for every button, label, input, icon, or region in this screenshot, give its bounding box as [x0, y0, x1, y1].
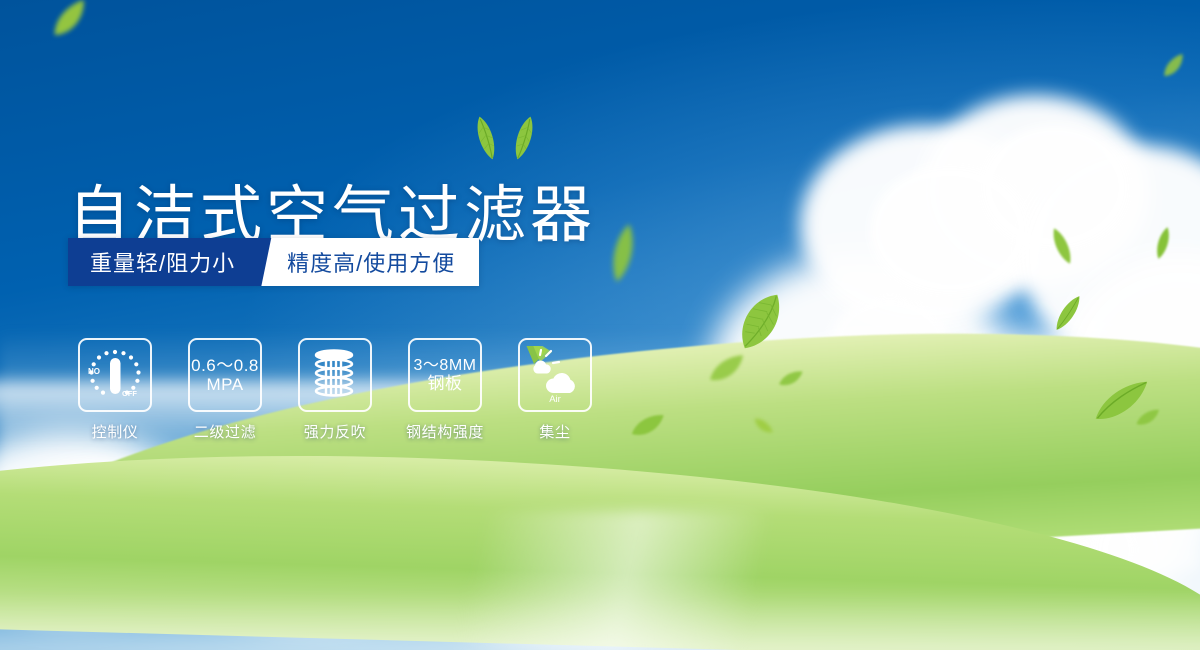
pressure-range: 0.6～0.8 [191, 356, 259, 375]
steel-plate-text: 3～8MM 钢板 [414, 357, 477, 394]
steel-plate-text-icon: 3～8MM 钢板 [408, 338, 482, 412]
pressure-text: 0.6～0.8 MPA [191, 356, 259, 394]
feature-label: 二级过滤 [194, 421, 256, 442]
gauge-dial-icon: NO OFF [78, 338, 152, 412]
feature-list: NO OFF 控制仪 0.6～0.8 MPA 二级过滤 [78, 338, 592, 442]
feature-item[interactable]: 强力反吹 [298, 338, 372, 442]
pressure-unit: MPA [191, 375, 259, 394]
subtitle-right-text: 精度高/使用方便 [281, 238, 479, 286]
feature-item[interactable]: 0.6～0.8 MPA 二级过滤 [188, 338, 262, 442]
feature-item[interactable]: 3～8MM 钢板 钢结构强度 [408, 338, 482, 442]
feature-item[interactable]: Air 集尘 [518, 338, 592, 442]
svg-text:NO: NO [88, 367, 100, 376]
feature-item[interactable]: NO OFF 控制仪 [78, 338, 152, 442]
svg-text:OFF: OFF [122, 389, 137, 398]
steel-thickness: 3～8MM [414, 357, 477, 375]
subtitle-badge-bar: 重量轻/阻力小 精度高/使用方便 [68, 238, 479, 286]
cloud-air-caption: Air [549, 394, 561, 404]
hill-sheen [0, 510, 1200, 650]
pressure-text-icon: 0.6～0.8 MPA [188, 338, 262, 412]
subtitle-slant-divider [255, 238, 281, 286]
steel-material: 钢板 [414, 374, 477, 393]
subtitle-left-text: 重量轻/阻力小 [68, 238, 255, 286]
feature-label: 强力反吹 [304, 421, 366, 442]
feature-label: 钢结构强度 [406, 421, 484, 442]
filter-cartridge-icon [298, 338, 372, 412]
feature-label: 控制仪 [92, 421, 139, 442]
banner-stage: 自洁式空气过滤器 重量轻/阻力小 精度高/使用方便 [0, 0, 1200, 650]
cloud-air-icon: Air [518, 338, 592, 412]
feature-label: 集尘 [539, 421, 570, 442]
leaf-icon [777, 368, 805, 389]
